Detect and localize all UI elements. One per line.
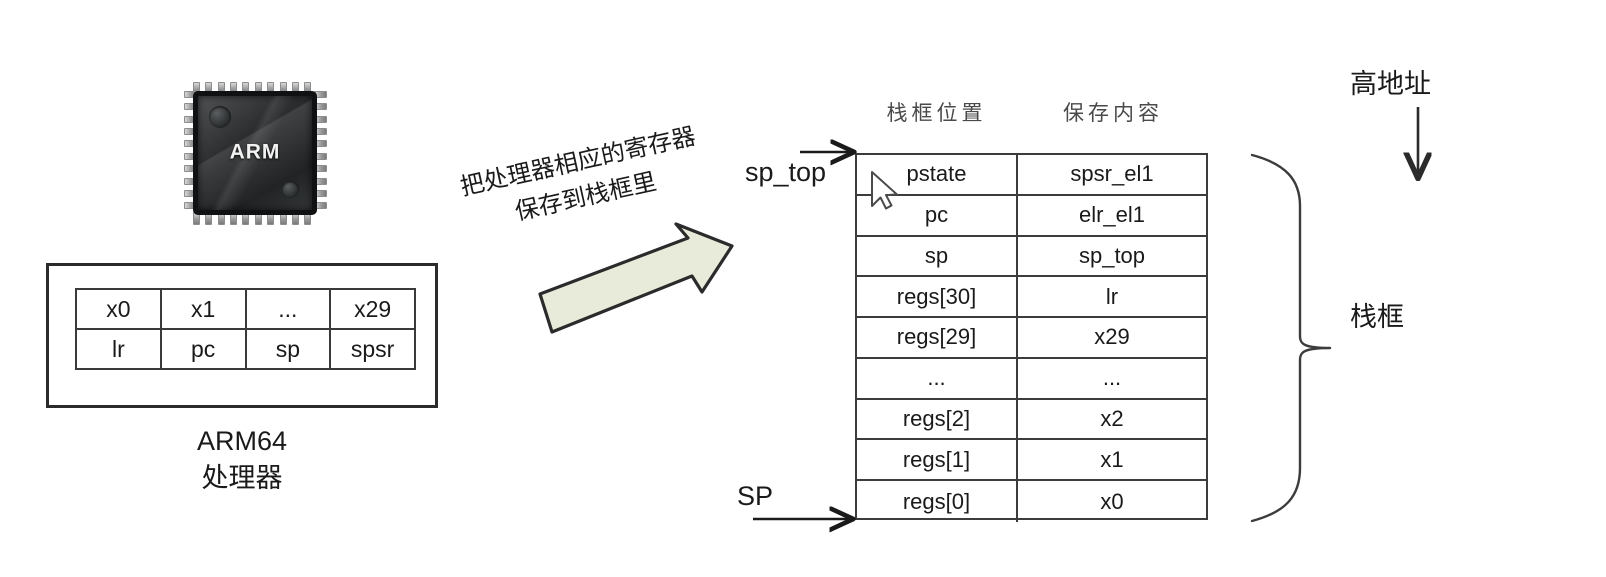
table-row: regs[30]lr: [857, 277, 1206, 318]
cell-content: lr: [1018, 277, 1206, 316]
cell-location: regs[0]: [857, 481, 1018, 522]
stack-header-content: 保存内容: [1018, 97, 1208, 127]
flow-block-arrow-icon: [536, 222, 736, 342]
stack-table-headers: 栈框位置 保存内容: [855, 97, 1208, 127]
stack-header-location: 栈框位置: [855, 97, 1018, 127]
table-row: regs[2]x2: [857, 400, 1206, 441]
arm-chip: ARM: [180, 78, 330, 228]
chip-orientation-dot-icon: [209, 106, 231, 128]
table-row: pcelr_el1: [857, 196, 1206, 237]
sp-pointer-label: SP: [737, 481, 773, 512]
cell-content: x0: [1018, 481, 1206, 522]
cell-location: ...: [857, 359, 1018, 398]
cpu-caption-line1: ARM64: [46, 423, 438, 460]
table-row: spsp_top: [857, 237, 1206, 278]
cpu-caption-line2: 处理器: [46, 460, 438, 497]
cell-location: sp: [857, 237, 1018, 276]
cell-content: ...: [1018, 359, 1206, 398]
chip-corner-dot-icon: [282, 181, 299, 198]
register-cell: lr: [77, 330, 162, 370]
table-row: pstatespsr_el1: [857, 155, 1206, 196]
cell-content: x1: [1018, 440, 1206, 479]
chip-body: ARM: [193, 91, 317, 215]
cell-location: regs[30]: [857, 277, 1018, 316]
cell-content: spsr_el1: [1018, 155, 1206, 194]
stack-frame-table: pstatespsr_el1 pcelr_el1 spsp_top regs[3…: [855, 153, 1208, 520]
register-cell: pc: [162, 330, 247, 370]
cell-content: elr_el1: [1018, 196, 1206, 235]
high-address-label: 高地址: [1350, 62, 1431, 101]
register-cell: x1: [162, 290, 247, 330]
cell-content: x29: [1018, 318, 1206, 357]
register-cell: sp: [247, 330, 332, 370]
cell-location: regs[2]: [857, 400, 1018, 439]
register-cell: x0: [77, 290, 162, 330]
cpu-register-grid: x0 x1 ... x29 lr pc sp spsr: [75, 288, 416, 370]
table-row: regs[1]x1: [857, 440, 1206, 481]
chip-brand-label: ARM: [198, 141, 312, 165]
stack-frame-brace-icon: [1252, 155, 1330, 521]
cell-location: pc: [857, 196, 1018, 235]
stack-frame-brace-label: 栈框: [1350, 295, 1404, 334]
cpu-caption: ARM64 处理器: [46, 423, 438, 497]
cell-location: pstate: [857, 155, 1018, 194]
cell-content: x2: [1018, 400, 1206, 439]
cell-content: sp_top: [1018, 237, 1206, 276]
register-cell: ...: [247, 290, 332, 330]
table-row: regs[0]x0: [857, 481, 1206, 522]
register-cell: spsr: [331, 330, 416, 370]
cell-location: regs[29]: [857, 318, 1018, 357]
table-row: regs[29]x29: [857, 318, 1206, 359]
table-row: ......: [857, 359, 1206, 400]
cell-location: regs[1]: [857, 440, 1018, 479]
register-cell: x29: [331, 290, 416, 330]
sp-top-pointer-label: sp_top: [745, 157, 826, 188]
